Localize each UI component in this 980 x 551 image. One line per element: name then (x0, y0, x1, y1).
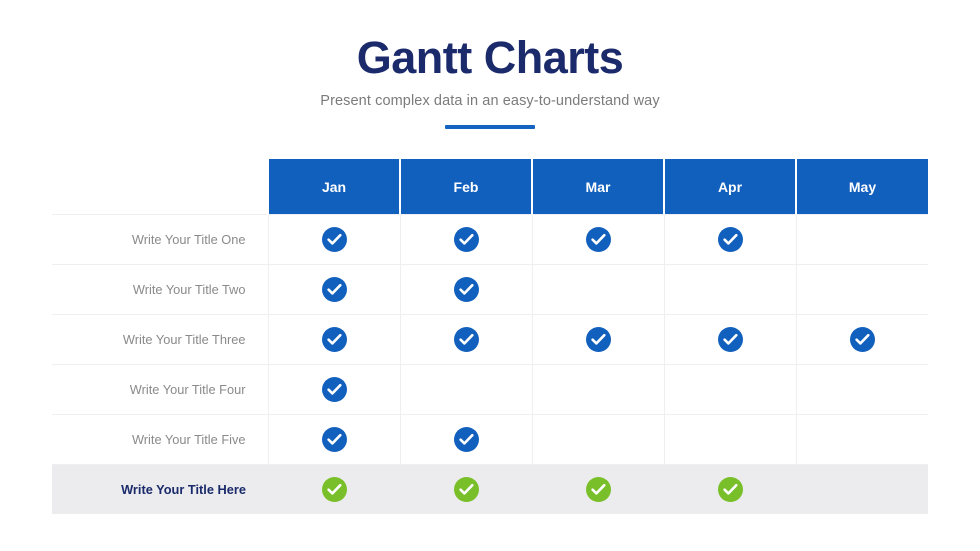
table-row: Write Your Title One (52, 215, 928, 265)
check-icon (454, 477, 479, 502)
check-icon (322, 227, 347, 252)
cell-apr-row3[interactable] (664, 315, 796, 365)
check-icon (586, 227, 611, 252)
row-label: Write Your Title Three (52, 315, 268, 365)
cell-mar-row6[interactable] (532, 465, 664, 515)
check-icon (454, 327, 479, 352)
check-icon (322, 377, 347, 402)
cell-feb-row6[interactable] (400, 465, 532, 515)
check-icon (454, 427, 479, 452)
check-icon (850, 327, 875, 352)
cell-apr-row4[interactable] (664, 365, 796, 415)
check-icon (322, 277, 347, 302)
cell-mar-row5[interactable] (532, 415, 664, 465)
row-label: Write Your Title One (52, 215, 268, 265)
cell-may-row6[interactable] (796, 465, 928, 515)
table-header: JanFebMarAprMay (52, 159, 928, 215)
row-label: Write Your Title Two (52, 265, 268, 315)
column-header-jan[interactable]: Jan (268, 159, 400, 215)
cell-feb-row1[interactable] (400, 215, 532, 265)
cell-jan-row4[interactable] (268, 365, 400, 415)
check-icon (718, 327, 743, 352)
cell-may-row1[interactable] (796, 215, 928, 265)
table-body: Write Your Title OneWrite Your Title Two… (52, 215, 928, 515)
gantt-table: JanFebMarAprMay Write Your Title OneWrit… (52, 159, 928, 514)
page-subtitle: Present complex data in an easy-to-under… (0, 93, 980, 109)
slide-header: Gantt Charts Present complex data in an … (0, 34, 980, 129)
column-header-mar[interactable]: Mar (532, 159, 664, 215)
table-header-row: JanFebMarAprMay (52, 159, 928, 215)
table-row: Write Your Title Four (52, 365, 928, 415)
cell-apr-row5[interactable] (664, 415, 796, 465)
cell-may-row4[interactable] (796, 365, 928, 415)
table-row: Write Your Title Two (52, 265, 928, 315)
cell-jan-row6[interactable] (268, 465, 400, 515)
cell-mar-row2[interactable] (532, 265, 664, 315)
check-icon (454, 227, 479, 252)
column-header-may[interactable]: May (796, 159, 928, 215)
table-row: Write Your Title Three (52, 315, 928, 365)
slide-canvas: Gantt Charts Present complex data in an … (0, 0, 980, 551)
cell-apr-row2[interactable] (664, 265, 796, 315)
cell-mar-row3[interactable] (532, 315, 664, 365)
title-accent-bar (445, 125, 535, 129)
cell-apr-row1[interactable] (664, 215, 796, 265)
check-icon (322, 327, 347, 352)
table-row: Write Your Title Here (52, 465, 928, 515)
cell-jan-row2[interactable] (268, 265, 400, 315)
column-header-apr[interactable]: Apr (664, 159, 796, 215)
check-icon (454, 277, 479, 302)
check-icon (322, 427, 347, 452)
row-label: Write Your Title Five (52, 415, 268, 465)
cell-feb-row3[interactable] (400, 315, 532, 365)
check-icon (586, 327, 611, 352)
cell-feb-row4[interactable] (400, 365, 532, 415)
cell-may-row5[interactable] (796, 415, 928, 465)
cell-jan-row5[interactable] (268, 415, 400, 465)
check-icon (718, 477, 743, 502)
cell-apr-row6[interactable] (664, 465, 796, 515)
check-icon (718, 227, 743, 252)
cell-feb-row2[interactable] (400, 265, 532, 315)
check-icon (586, 477, 611, 502)
cell-may-row2[interactable] (796, 265, 928, 315)
cell-mar-row1[interactable] (532, 215, 664, 265)
check-icon (322, 477, 347, 502)
cell-feb-row5[interactable] (400, 415, 532, 465)
table-row: Write Your Title Five (52, 415, 928, 465)
cell-jan-row3[interactable] (268, 315, 400, 365)
page-title: Gantt Charts (0, 34, 980, 81)
row-label: Write Your Title Four (52, 365, 268, 415)
cell-mar-row4[interactable] (532, 365, 664, 415)
cell-may-row3[interactable] (796, 315, 928, 365)
cell-jan-row1[interactable] (268, 215, 400, 265)
row-label: Write Your Title Here (52, 465, 268, 515)
column-header-feb[interactable]: Feb (400, 159, 532, 215)
table-corner-cell (52, 159, 268, 215)
